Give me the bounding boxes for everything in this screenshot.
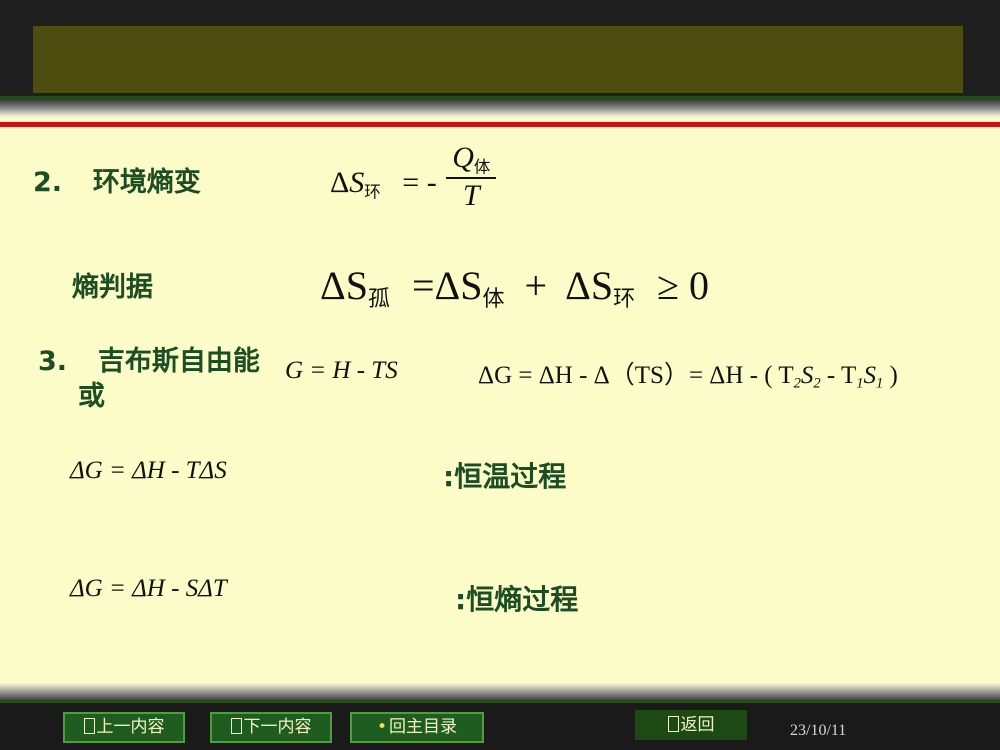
entropy-criterion-equation: ΔS孤 =ΔS体 + ΔS环 ≥ 0: [320, 262, 709, 313]
isentropic-equation: ΔG = ΔH - SΔT: [70, 575, 227, 603]
header-gradient-strip: [0, 100, 1000, 118]
gibbs-delta-part5: ): [883, 362, 898, 389]
next-content-label: 下一内容: [244, 717, 312, 737]
back-arrow-icon: [668, 716, 679, 732]
previous-content-button[interactable]: 上一内容: [63, 712, 185, 743]
isothermal-equation: ΔG = ΔH - TΔS: [70, 457, 227, 485]
heat-over-temperature-fraction: Q体 T: [446, 142, 496, 211]
entropy-symbol: S: [349, 166, 364, 199]
equals-sign: =: [412, 263, 435, 308]
presentation-slide: 2. 环境熵变 ΔS环 = - Q体 T 熵判据 ΔS孤 =ΔS体 + ΔS环 …: [0, 0, 1000, 750]
gibbs-delta-sub1: 2: [794, 375, 801, 391]
greater-equal-zero: ≥ 0: [657, 263, 709, 308]
isentropic-label: :恒熵过程: [455, 578, 578, 618]
gibbs-delta-equation: ΔG = ΔH - Δ（TS）= ΔH - ( T2S2 - T1S1 ): [478, 355, 898, 392]
environment-entropy-term: ΔS: [565, 263, 613, 308]
gibbs-delta-sub2: 2: [813, 375, 820, 391]
equals-minus-operator: = -: [402, 166, 436, 199]
home-menu-label: 回主目录: [389, 717, 457, 737]
next-content-button[interactable]: 下一内容: [210, 712, 332, 743]
item3-label-second: 或: [38, 380, 260, 415]
heat-subscript: 体: [474, 157, 491, 176]
gibbs-delta-sub3: 1: [856, 375, 863, 391]
item2-label: 环境熵变: [93, 167, 201, 198]
left-arrow-icon: [84, 718, 95, 734]
isolated-subscript: 孤: [368, 287, 390, 312]
bullet-icon: •: [377, 717, 387, 737]
item2-heading: 2. 环境熵变: [33, 160, 201, 199]
item3-number: 3.: [38, 346, 67, 377]
slide-title-box: [33, 26, 963, 93]
plus-sign: +: [525, 263, 548, 308]
slide-header-band: [0, 0, 1000, 96]
fraction-denominator: T: [446, 179, 496, 212]
environment-entropy-equation: ΔS环 = - Q体 T: [330, 142, 498, 211]
body-red-rule: [0, 122, 1000, 127]
system-subscript: 体: [483, 287, 505, 312]
entropy-criterion-heading: 熵判据: [72, 265, 153, 304]
home-menu-button[interactable]: •回主目录: [350, 712, 484, 743]
item3-heading: 3. 吉布斯自由能 或: [38, 345, 260, 414]
gibbs-definition-equation: G = H - TS: [285, 357, 398, 385]
fraction-numerator: Q体: [446, 142, 496, 179]
gibbs-delta-part3: - T: [821, 362, 857, 389]
delta-symbol: Δ: [330, 166, 349, 199]
environment-subscript: 环: [613, 287, 635, 312]
isolated-entropy-term: ΔS: [320, 263, 368, 308]
gibbs-delta-part1: ΔG = ΔH - Δ（TS）= ΔH - ( T: [478, 362, 794, 389]
right-arrow-icon: [231, 718, 242, 734]
entropy-subscript: 环: [364, 182, 381, 201]
footer-gradient-strip: [0, 683, 1000, 701]
system-entropy-term: ΔS: [435, 263, 483, 308]
date-stamp: 23/10/11: [790, 722, 846, 740]
gibbs-delta-part4: S: [864, 362, 877, 389]
back-label: 返回: [681, 715, 715, 735]
previous-content-label: 上一内容: [97, 717, 165, 737]
gibbs-delta-part2: S: [801, 362, 814, 389]
item2-number: 2.: [33, 167, 62, 198]
back-button[interactable]: 返回: [635, 710, 747, 740]
isothermal-label: :恒温过程: [443, 455, 566, 495]
item3-label: 吉布斯自由能: [98, 346, 260, 377]
heat-symbol: Q: [452, 141, 474, 174]
